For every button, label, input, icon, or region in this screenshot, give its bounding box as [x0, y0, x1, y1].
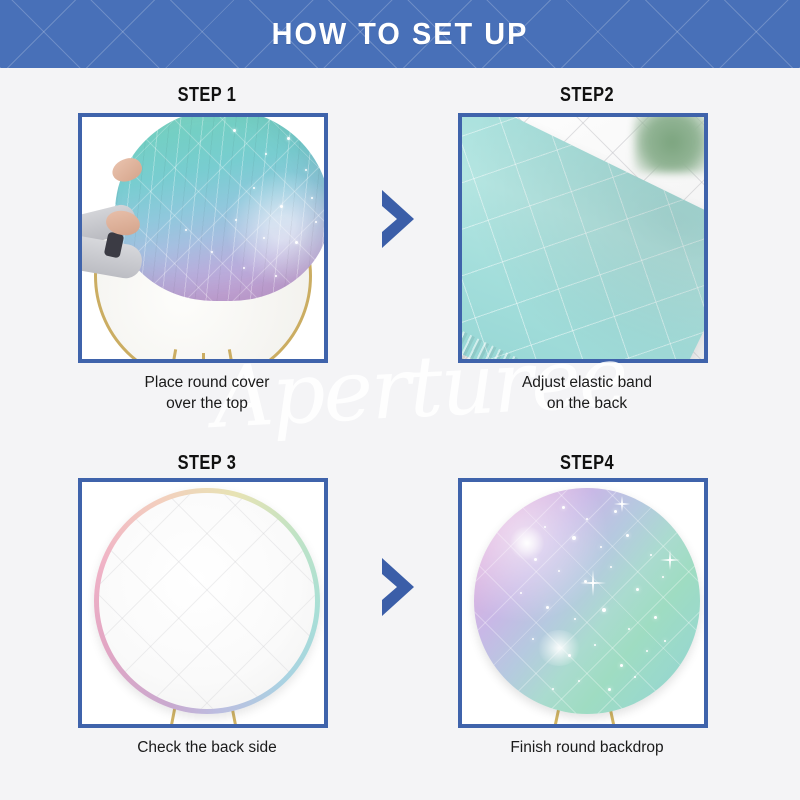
- gradient-cover-fabric: [115, 117, 324, 301]
- step-caption-1-line1: Place round cover: [78, 372, 336, 393]
- step-caption-2-line2: on the back: [458, 393, 716, 414]
- step-title-4: STEP4: [481, 452, 693, 475]
- step-caption-3: Check the back side: [78, 737, 336, 758]
- step-caption-3-line1: Check the back side: [78, 737, 336, 758]
- step-photo-3: [82, 482, 324, 724]
- step-panel-2: STEP2 Adjust elastic band on the back: [458, 84, 716, 414]
- white-back-face: [99, 493, 315, 709]
- step-caption-1: Place round cover over the top: [78, 372, 336, 414]
- step-title-3: STEP 3: [101, 452, 313, 475]
- step-caption-4: Finish round backdrop: [458, 737, 716, 758]
- step-caption-2: Adjust elastic band on the back: [458, 372, 716, 414]
- step-panel-1: STEP 1: [78, 84, 336, 414]
- star-sparkles: [474, 488, 700, 714]
- finished-backdrop: [474, 488, 700, 714]
- chevron-right-icon-2: [370, 554, 424, 625]
- step-photo-1: [82, 117, 324, 359]
- step-caption-4-line1: Finish round backdrop: [458, 737, 716, 758]
- step-image-frame-3: [78, 478, 328, 728]
- step-title-2: STEP2: [481, 84, 693, 107]
- page-header: HOW TO SET UP: [0, 0, 800, 68]
- step-panel-3: STEP 3 Check the back side: [78, 452, 336, 762]
- background-blur: [634, 117, 704, 173]
- step-title-1: STEP 1: [101, 84, 313, 107]
- step-image-frame-2: [458, 113, 708, 363]
- step-image-frame-4: [458, 478, 708, 728]
- step-photo-4: [462, 482, 704, 724]
- step-caption-1-line2: over the top: [78, 393, 336, 414]
- step-photo-2: [462, 117, 704, 359]
- page-title: HOW TO SET UP: [28, 0, 772, 68]
- step-image-frame-1: [78, 113, 328, 363]
- step-caption-2-line1: Adjust elastic band: [458, 372, 716, 393]
- chevron-right-icon-1: [370, 186, 424, 257]
- step-panel-4: STEP4: [458, 452, 716, 762]
- backdrop-back-side: [94, 488, 320, 714]
